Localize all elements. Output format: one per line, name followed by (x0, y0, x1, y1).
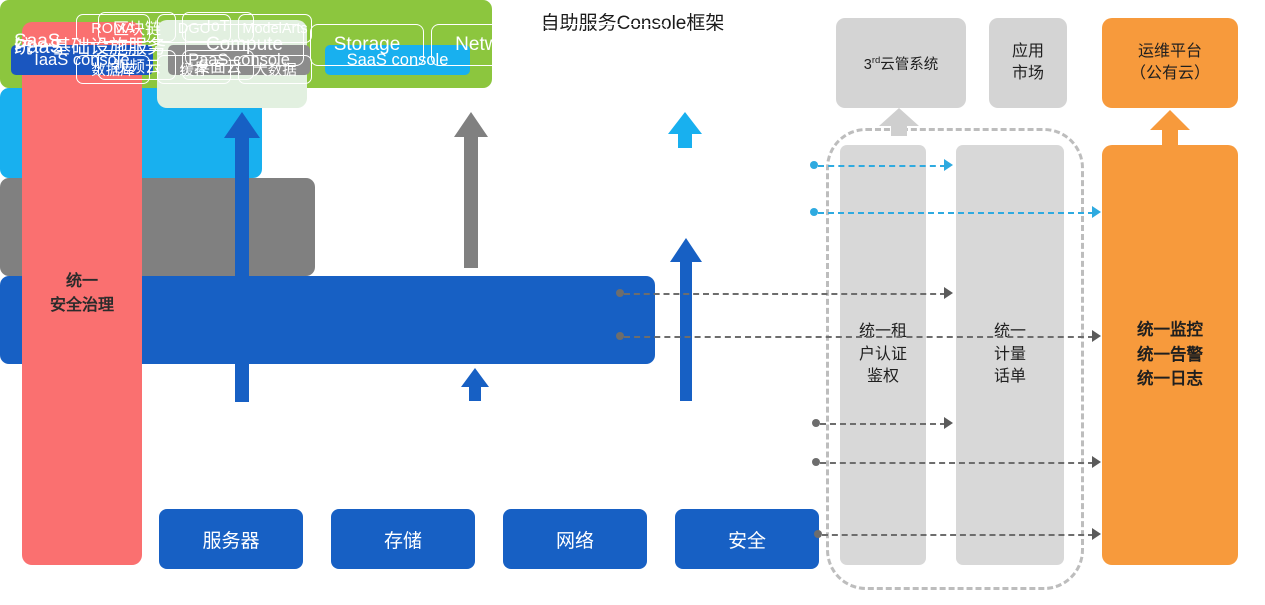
resource-box-network[interactable]: 网络 (503, 509, 647, 569)
connector-dot-resources-ops (814, 530, 822, 538)
dashed-line-paas-to-auth (624, 293, 946, 295)
arrow-saas-to-console (668, 112, 702, 148)
arrow-infra-to-paas (461, 368, 489, 401)
resource-box-security[interactable]: 安全 (675, 509, 819, 569)
connector-dot-saas-ops (810, 208, 818, 216)
arrowhead-paas-to-ops (1092, 330, 1101, 342)
unified-infrastructure-label: 统一基础设施服务 (14, 32, 166, 59)
ops-platform-box[interactable]: 运维平台 （公有云） (1102, 18, 1238, 108)
arrowhead-paas-to-auth (944, 287, 953, 299)
iaas-chip-cce[interactable]: CCE (556, 24, 668, 66)
ops-column-line-2: 统一告警 (1137, 343, 1203, 368)
dashed-line-saas-to-ops (818, 212, 1094, 214)
paas-chip-database[interactable]: 数据库 (76, 55, 150, 84)
third-party-label: 3rd云管系统 (864, 53, 939, 74)
arrowhead-saas-to-auth (944, 159, 953, 171)
ops-column-line-3: 统一日志 (1137, 367, 1203, 392)
resource-box-server[interactable]: 服务器 (159, 509, 303, 569)
third-party-superscript: rd (872, 55, 880, 66)
ops-monitoring-column: 统一监控 统一告警 统一日志 (1102, 145, 1238, 565)
iaas-chip-storage[interactable]: Storage (310, 24, 424, 66)
ops-column-line-1: 统一监控 (1137, 318, 1203, 343)
auth-column-line-1: 统一租 (859, 321, 907, 343)
dashed-line-paas-to-ops (624, 336, 1094, 338)
third-party-suffix: 云管系统 (880, 57, 938, 73)
connector-dot-iaas-ops (812, 458, 820, 466)
dashed-line-iaas-to-auth (820, 423, 946, 425)
ops-platform-line-2: （公有云） (1130, 63, 1210, 85)
architecture-diagram-canvas: 统一 安全治理 API网关 自助服务Console框架 IaaS console… (0, 0, 1265, 605)
third-party-cloud-mgmt-box[interactable]: 3rd云管系统 (836, 18, 966, 108)
arrow-paas-to-console (454, 112, 488, 268)
dashed-line-saas-to-auth (818, 165, 946, 167)
third-party-prefix: 3 (864, 57, 872, 73)
app-market-box[interactable]: 应用 市场 (989, 18, 1067, 108)
iaas-chip-compute[interactable]: Compute (185, 24, 304, 66)
connector-dot-paas-ops (616, 332, 624, 340)
arrowhead-iaas-to-auth (944, 417, 953, 429)
metering-column-line-2: 计量 (994, 344, 1026, 366)
arrowhead-saas-to-ops (1092, 206, 1101, 218)
iaas-chip-network[interactable]: Network (431, 24, 549, 66)
connector-dot-saas-auth (810, 161, 818, 169)
auth-column-line-3: 鉴权 (859, 366, 907, 388)
unified-metering-billing-column: 统一 计量 话单 (956, 145, 1064, 565)
metering-column-line-3: 话单 (994, 366, 1026, 388)
dashed-line-iaas-to-ops (820, 462, 1094, 464)
unified-security-governance-panel: 统一 安全治理 (22, 22, 142, 565)
ops-platform-line-1: 运维平台 (1130, 41, 1210, 63)
connector-dot-paas-auth (616, 289, 624, 297)
arrow-infra-to-api-gateway (224, 112, 260, 402)
arrowhead-iaas-to-ops (1092, 456, 1101, 468)
security-line-1: 统一 (50, 270, 114, 293)
connector-dot-iaas-auth (812, 419, 820, 427)
arrow-ops-column-to-ops-platform (1150, 110, 1190, 146)
auth-column-line-2: 户认证 (859, 344, 907, 366)
security-line-2: 安全治理 (50, 294, 114, 317)
unified-tenant-auth-column: 统一租 户认证 鉴权 (840, 145, 926, 565)
app-market-line-2: 市场 (1012, 63, 1044, 85)
arrowhead-resources-to-ops (1092, 528, 1101, 540)
app-market-line-1: 应用 (1012, 41, 1044, 63)
arrow-shared-to-third-party (879, 108, 919, 136)
resource-box-storage[interactable]: 存储 (331, 509, 475, 569)
metering-column-line-1: 统一 (994, 321, 1026, 343)
arrow-infra-to-saas (670, 238, 702, 401)
dashed-line-resources-to-ops (822, 534, 1094, 536)
